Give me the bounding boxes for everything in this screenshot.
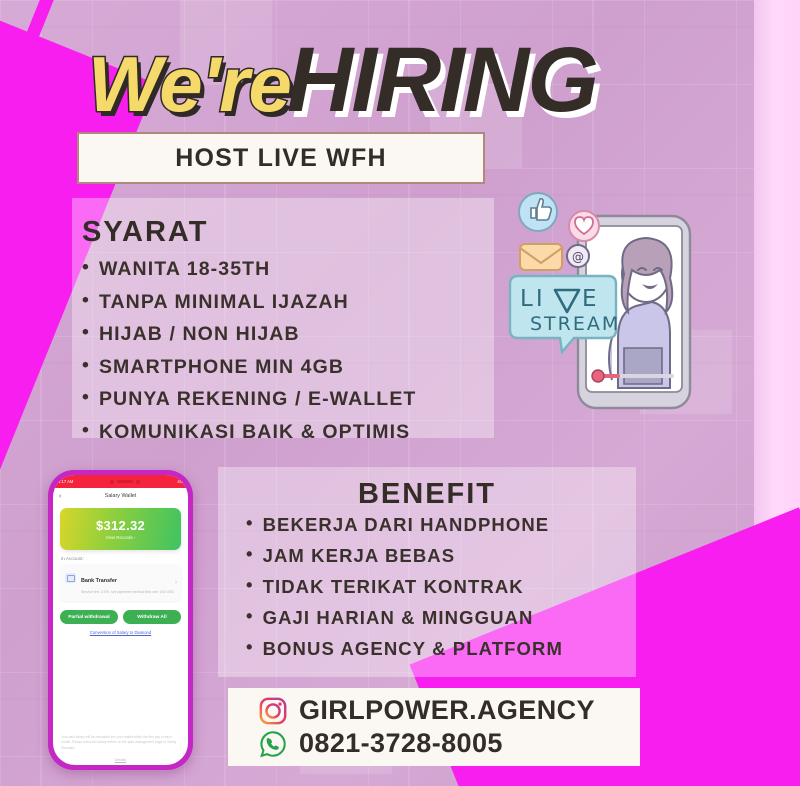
benefit-text: JAM KERJA BEBAS bbox=[263, 545, 456, 567]
list-item: •SMARTPHONE MIN 4GB bbox=[82, 356, 502, 379]
bullet-icon: • bbox=[82, 323, 90, 343]
job-title-banner: HOST LIVE WFH bbox=[77, 132, 485, 184]
bullet-icon: • bbox=[82, 291, 90, 311]
benefits-title: BENEFIT bbox=[218, 478, 636, 511]
bullet-icon: • bbox=[82, 258, 90, 278]
phone-notch bbox=[105, 478, 145, 485]
requirement-text: TANPA MINIMAL IJAZAH bbox=[99, 291, 349, 314]
svg-text:@: @ bbox=[572, 250, 584, 264]
contact-footer: GIRLPOWER.AGENCY 0821-3728-8005 bbox=[228, 688, 640, 766]
headline: We're HIRING bbox=[88, 34, 688, 124]
bullet-icon: • bbox=[246, 514, 254, 533]
bank-transfer-text: Bank Transfer Service fee: 2.5%, set pay… bbox=[81, 569, 176, 595]
envelope-icon bbox=[520, 244, 562, 270]
bubble-line-2: STREAM bbox=[530, 313, 620, 335]
live-stream-illustration: @ LI E STREAM bbox=[500, 188, 730, 438]
benefit-text: BONUS AGENCY & PLATFORM bbox=[263, 638, 563, 660]
phone-screen-title: Salary Wallet bbox=[53, 493, 188, 499]
chevron-right-icon: › bbox=[175, 580, 177, 586]
list-item: •HIJAB / NON HIJAB bbox=[82, 323, 502, 346]
at-mention-icon: @ bbox=[567, 245, 589, 267]
phone-body: $312.32 View Records › In Account: Bank … bbox=[53, 504, 188, 639]
list-item: •GAJI HARIAN & MINGGUAN bbox=[246, 607, 646, 629]
requirement-text: HIJAB / NON HIJAB bbox=[99, 323, 300, 346]
phone-footer: Your paid salary will be deposited into … bbox=[53, 735, 188, 762]
bullet-icon: • bbox=[82, 388, 90, 408]
list-item: •KOMUNIKASI BAIK & OPTIMIS bbox=[82, 421, 502, 444]
whatsapp-row[interactable]: 0821-3728-8005 bbox=[258, 728, 640, 759]
conversion-link[interactable]: Conversion of Salary to Diamond bbox=[60, 630, 181, 635]
bullet-icon: • bbox=[246, 545, 254, 564]
bank-icon bbox=[65, 573, 76, 583]
bank-transfer-title: Bank Transfer bbox=[81, 578, 117, 584]
view-records-link[interactable]: View Records › bbox=[106, 535, 136, 540]
benefit-text: GAJI HARIAN & MINGGUAN bbox=[263, 607, 534, 629]
list-item: •TANPA MINIMAL IJAZAH bbox=[82, 291, 502, 314]
requirement-text: WANITA 18-35TH bbox=[99, 258, 270, 281]
bubble-line-1: LI bbox=[520, 286, 546, 312]
requirement-text: SMARTPHONE MIN 4GB bbox=[99, 356, 344, 379]
whatsapp-icon[interactable] bbox=[258, 729, 288, 759]
heart-icon bbox=[569, 211, 599, 241]
list-item: •PUNYA REKENING / E-WALLET bbox=[82, 388, 502, 411]
benefit-text: BEKERJA DARI HANDPHONE bbox=[263, 514, 550, 536]
requirements-list: •WANITA 18-35TH •TANPA MINIMAL IJAZAH •H… bbox=[82, 258, 502, 453]
withdraw-buttons: Partial withdrawal Withdraw All bbox=[60, 610, 181, 624]
phone-nav-bar: ‹ Salary Wallet bbox=[53, 488, 188, 504]
list-item: •WANITA 18-35TH bbox=[82, 258, 502, 281]
benefit-text: TIDAK TERIKAT KONTRAK bbox=[263, 576, 524, 598]
bank-transfer-description: Service fee: 2.5%, set payment method fi… bbox=[81, 590, 176, 595]
requirements-title: SYARAT bbox=[82, 216, 208, 249]
phone-status-bar: 4:17 AM 4G bbox=[53, 475, 188, 488]
headline-were: We're bbox=[88, 45, 291, 123]
bullet-icon: • bbox=[246, 607, 254, 626]
requirement-text: PUNYA REKENING / E-WALLET bbox=[99, 388, 417, 411]
whatsapp-number: 0821-3728-8005 bbox=[299, 728, 503, 759]
bullet-icon: • bbox=[246, 576, 254, 595]
bullet-icon: • bbox=[246, 638, 254, 657]
account-label: In Account: bbox=[61, 556, 181, 561]
requirement-text: KOMUNIKASI BAIK & OPTIMIS bbox=[99, 421, 410, 444]
fine-print: Your paid salary will be deposited into … bbox=[61, 735, 180, 751]
bullet-icon: • bbox=[82, 421, 90, 441]
back-icon[interactable]: ‹ bbox=[59, 493, 61, 500]
svg-text:E: E bbox=[582, 286, 597, 312]
bank-transfer-row[interactable]: Bank Transfer Service fee: 2.5%, set pay… bbox=[60, 564, 181, 601]
salary-wallet-phone-mockup: 4:17 AM 4G ‹ Salary Wallet $312.32 View … bbox=[48, 470, 193, 770]
list-item: •BONUS AGENCY & PLATFORM bbox=[246, 638, 646, 660]
status-time: 4:17 AM bbox=[58, 479, 73, 484]
list-item: •JAM KERJA BEBAS bbox=[246, 545, 646, 567]
balance-amount: $312.32 bbox=[96, 518, 145, 533]
list-item: •BEKERJA DARI HANDPHONE bbox=[246, 514, 646, 536]
hiring-poster: We're HIRING HOST LIVE WFH SYARAT •WANIT… bbox=[0, 0, 800, 786]
status-signal: 4G bbox=[177, 479, 183, 484]
details-link[interactable]: Details bbox=[61, 758, 180, 762]
phone-screen: 4:17 AM 4G ‹ Salary Wallet $312.32 View … bbox=[53, 475, 188, 765]
withdraw-all-button[interactable]: Withdraw All bbox=[123, 610, 181, 624]
instagram-row[interactable]: GIRLPOWER.AGENCY bbox=[258, 695, 640, 726]
job-title-text: HOST LIVE WFH bbox=[175, 144, 386, 173]
bullet-icon: • bbox=[82, 356, 90, 376]
partial-withdrawal-button[interactable]: Partial withdrawal bbox=[60, 610, 118, 624]
balance-card: $312.32 View Records › bbox=[60, 508, 181, 550]
thumbs-up-icon bbox=[519, 193, 557, 231]
instagram-handle: GIRLPOWER.AGENCY bbox=[299, 695, 595, 726]
list-item: •TIDAK TERIKAT KONTRAK bbox=[246, 576, 646, 598]
benefits-list: •BEKERJA DARI HANDPHONE •JAM KERJA BEBAS… bbox=[246, 514, 646, 669]
headline-hiring: HIRING bbox=[287, 34, 597, 126]
instagram-icon[interactable] bbox=[258, 696, 288, 726]
